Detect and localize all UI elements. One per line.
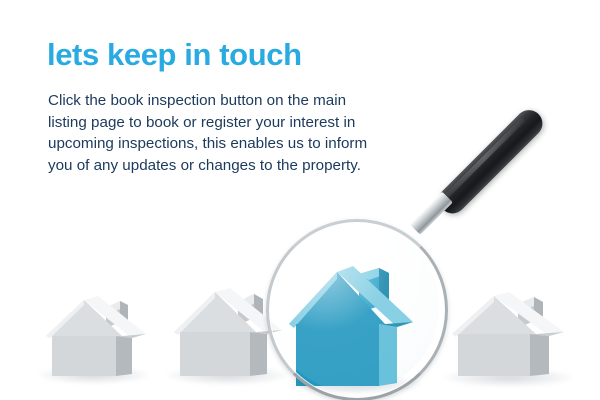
house-grey-1[interactable] [42, 296, 154, 380]
body-copy-line-2: listing page to book or register your in… [48, 112, 448, 134]
body-copy-line-3: upcoming inspections, this enables us to… [48, 133, 448, 155]
house-grey-3[interactable] [448, 292, 574, 380]
body-copy-line-1: Click the book inspection button on the … [48, 90, 448, 112]
body-copy: Click the book inspection button on the … [48, 90, 448, 176]
promo-banner: lets keep in touch Click the book inspec… [0, 0, 600, 400]
body-copy-line-4: you of any updates or changes to the pro… [48, 155, 448, 177]
page-title: lets keep in touch [47, 39, 302, 72]
house-grey-2[interactable] [170, 288, 290, 380]
house-blue-highlighted[interactable] [283, 266, 423, 388]
